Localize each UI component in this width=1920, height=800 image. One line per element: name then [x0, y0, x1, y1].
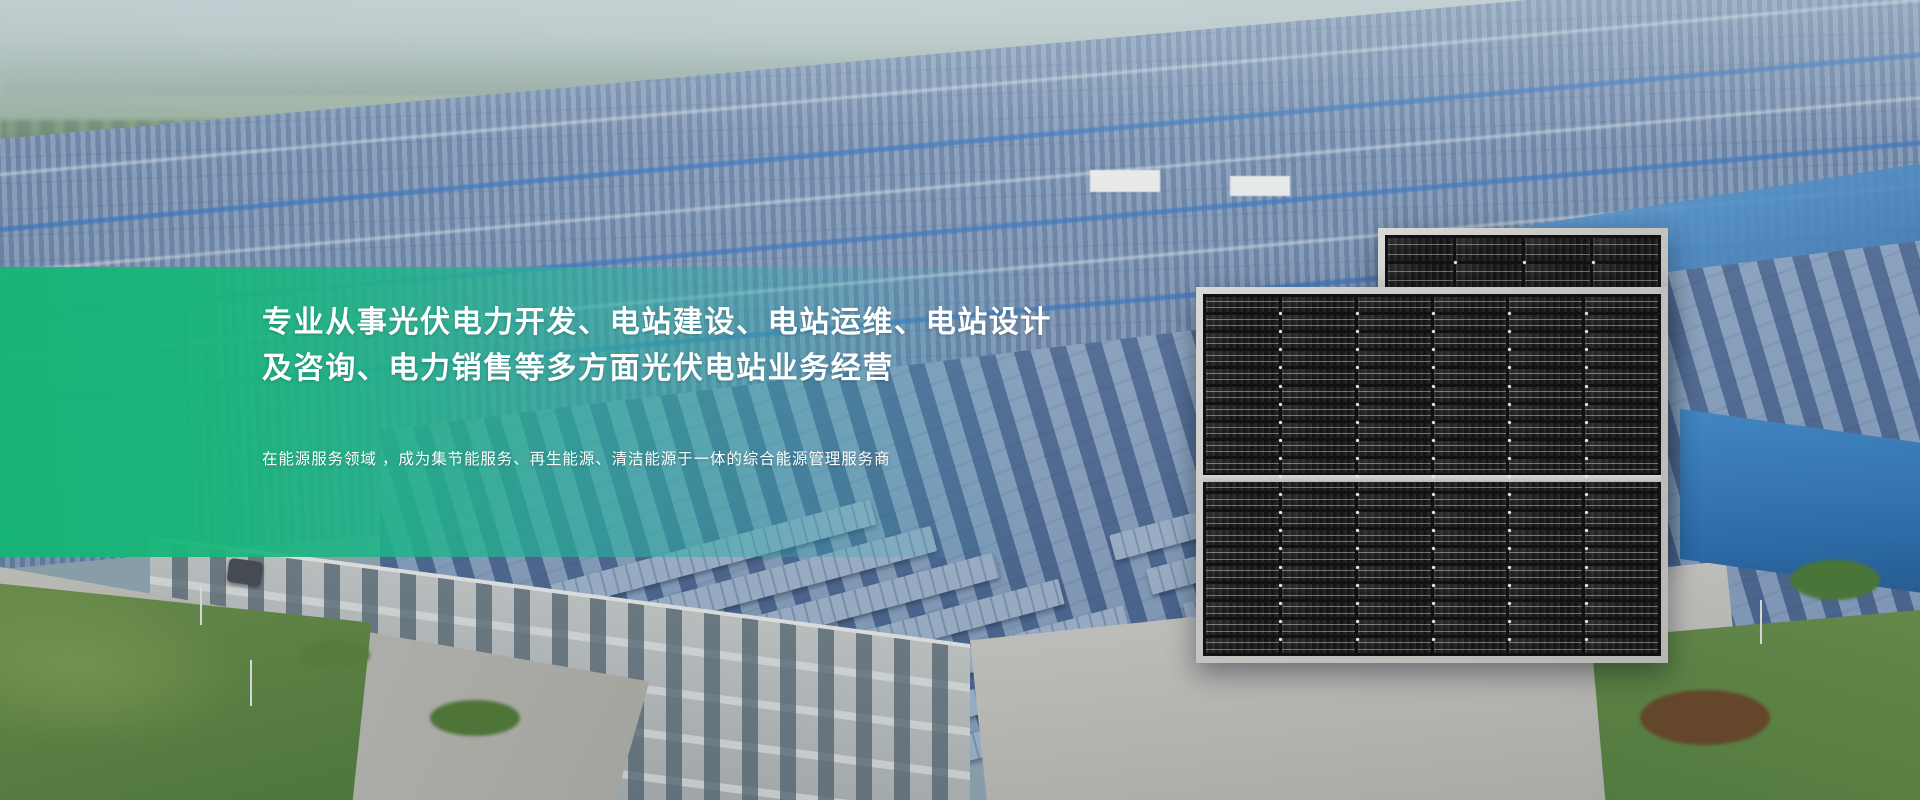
cell-busbar [1585, 355, 1658, 356]
cell-busbar [1434, 355, 1507, 356]
solar-cell [1585, 297, 1658, 312]
cell-busbar [1358, 559, 1431, 560]
solar-cell [1434, 369, 1507, 384]
solar-cell [1388, 238, 1453, 261]
solar-cell [1358, 351, 1431, 366]
solar-cell [1206, 297, 1279, 312]
solar-cell [1282, 351, 1355, 366]
solar-cell [1434, 405, 1507, 420]
solar-cell [1358, 584, 1431, 599]
solar-cell [1206, 620, 1279, 635]
solar-cell [1585, 387, 1658, 402]
cell-busbar [1206, 541, 1279, 542]
cell-busbar [1206, 409, 1279, 410]
cell-solder-dot [1356, 457, 1359, 460]
solar-cell [1585, 512, 1658, 527]
cell-busbar [1358, 469, 1431, 470]
solar-cell [1282, 369, 1355, 384]
cell-busbar [1434, 595, 1507, 596]
cell-busbar [1282, 445, 1355, 446]
solar-cell [1509, 441, 1582, 456]
cell-busbar [1282, 649, 1355, 650]
cell-busbar [1282, 361, 1355, 362]
solar-cell [1282, 494, 1355, 509]
solar-cell [1358, 315, 1431, 330]
solar-cell [1509, 459, 1582, 474]
cell-busbar [1358, 606, 1431, 607]
solar-cell [1585, 441, 1658, 456]
cell-solder-dot [1432, 439, 1435, 442]
cell-busbar [1509, 409, 1582, 410]
solar-cell [1585, 494, 1658, 509]
solar-cell [1434, 459, 1507, 474]
cell-busbar [1282, 469, 1355, 470]
solar-cell [1509, 584, 1582, 599]
cell-busbar [1206, 307, 1279, 308]
cell-busbar [1509, 559, 1582, 560]
cell-busbar [1585, 552, 1658, 553]
cell-busbar [1585, 642, 1658, 643]
cell-busbar [1282, 427, 1355, 428]
cell-busbar [1206, 487, 1279, 488]
cell-busbar [1434, 337, 1507, 338]
cell-busbar [1585, 451, 1658, 452]
cell-busbar [1206, 505, 1279, 506]
cell-solder-dot [1585, 493, 1588, 496]
cell-busbar [1282, 319, 1355, 320]
solar-cell [1358, 602, 1431, 617]
cell-busbar [1434, 613, 1507, 614]
cell-solder-dot [1356, 638, 1359, 641]
cell-busbar [1282, 505, 1355, 506]
cell-busbar [1585, 487, 1658, 488]
solar-cell [1585, 405, 1658, 420]
solar-cell [1206, 494, 1279, 509]
solar-cell [1585, 602, 1658, 617]
cell-busbar [1358, 577, 1431, 578]
hero-banner: 专业从事光伏电力开发、电站建设、电站运维、电站设计 及咨询、电力销售等多方面光伏… [0, 0, 1920, 800]
cell-busbar [1585, 343, 1658, 344]
cell-solder-dot [1585, 439, 1588, 442]
solar-cell [1593, 264, 1658, 287]
solar-cell [1509, 405, 1582, 420]
cell-busbar [1509, 487, 1582, 488]
solar-cell [1282, 620, 1355, 635]
cell-solder-dot [1432, 638, 1435, 641]
cell-busbar [1282, 325, 1355, 326]
cell-solder-dot [1432, 584, 1435, 587]
cell-solder-dot [1356, 511, 1359, 514]
cell-solder-dot [1432, 566, 1435, 569]
cell-busbar [1509, 541, 1582, 542]
cell-solder-dot [1356, 330, 1359, 333]
cell-busbar [1206, 379, 1279, 380]
cell-busbar [1456, 271, 1521, 272]
cell-busbar [1434, 535, 1507, 536]
solar-cell [1434, 512, 1507, 527]
cell-busbar [1388, 254, 1453, 255]
cell-busbar [1282, 409, 1355, 410]
solar-cell [1434, 566, 1507, 581]
cell-solder-dot [1585, 330, 1588, 333]
cell-busbar [1206, 559, 1279, 560]
cell-busbar [1525, 271, 1590, 272]
cell-solder-dot [1585, 566, 1588, 569]
solar-cell [1282, 548, 1355, 563]
cell-busbar [1509, 337, 1582, 338]
cell-busbar [1358, 433, 1431, 434]
cell-busbar [1525, 254, 1590, 255]
cell-busbar [1282, 379, 1355, 380]
cell-busbar [1585, 415, 1658, 416]
cell-solder-dot [1432, 457, 1435, 460]
solar-cell [1434, 548, 1507, 563]
cell-busbar [1358, 499, 1431, 500]
cell-busbar [1282, 301, 1355, 302]
solar-cell [1358, 333, 1431, 348]
solar-cell [1434, 584, 1507, 599]
cell-busbar [1509, 391, 1582, 392]
cell-busbar [1206, 319, 1279, 320]
cell-busbar [1358, 355, 1431, 356]
cell-busbar [1509, 433, 1582, 434]
cell-busbar [1509, 631, 1582, 632]
cell-solder-dot [1356, 566, 1359, 569]
cell-busbar [1509, 570, 1582, 571]
cell-busbar [1206, 397, 1279, 398]
cell-busbar [1206, 588, 1279, 589]
cell-busbar [1282, 463, 1355, 464]
cell-busbar [1585, 463, 1658, 464]
cell-busbar [1206, 469, 1279, 470]
solar-cell [1206, 602, 1279, 617]
cell-busbar [1434, 517, 1507, 518]
solar-cell [1358, 459, 1431, 474]
cell-busbar [1585, 631, 1658, 632]
solar-cell [1434, 602, 1507, 617]
cell-solder-dot [1585, 511, 1588, 514]
cell-busbar [1434, 552, 1507, 553]
cell-busbar [1509, 307, 1582, 308]
cell-solder-dot [1585, 385, 1588, 388]
cell-busbar [1509, 606, 1582, 607]
solar-cell [1585, 530, 1658, 545]
cell-busbar [1282, 559, 1355, 560]
solar-cell [1206, 315, 1279, 330]
solar-cell [1434, 333, 1507, 348]
solar-cell [1358, 566, 1431, 581]
cell-busbar [1282, 642, 1355, 643]
cell-busbar [1358, 624, 1431, 625]
solar-cell [1282, 423, 1355, 438]
cell-busbar [1509, 325, 1582, 326]
cell-solder-dot [1508, 385, 1511, 388]
cell-busbar [1358, 445, 1431, 446]
solar-cell [1593, 238, 1658, 261]
cell-busbar [1282, 606, 1355, 607]
cell-busbar [1206, 391, 1279, 392]
cell-busbar [1509, 613, 1582, 614]
cell-busbar [1434, 463, 1507, 464]
cell-busbar [1434, 570, 1507, 571]
cell-solder-dot [1432, 403, 1435, 406]
cell-busbar [1434, 505, 1507, 506]
solar-cell [1434, 297, 1507, 312]
solar-cell [1509, 494, 1582, 509]
solar-cell [1434, 441, 1507, 456]
cell-busbar [1282, 391, 1355, 392]
cell-busbar [1206, 463, 1279, 464]
cell-busbar [1585, 577, 1658, 578]
cell-busbar [1358, 642, 1431, 643]
solar-cell [1585, 566, 1658, 581]
cell-busbar [1434, 523, 1507, 524]
cell-busbar [1206, 624, 1279, 625]
solar-cell [1585, 423, 1658, 438]
solar-cell [1206, 441, 1279, 456]
cell-busbar [1509, 445, 1582, 446]
cell-busbar [1358, 337, 1431, 338]
solar-cell [1509, 333, 1582, 348]
cell-busbar [1206, 613, 1279, 614]
cell-busbar [1585, 541, 1658, 542]
cell-solder-dot [1585, 638, 1588, 641]
cell-busbar [1434, 409, 1507, 410]
solar-cell [1358, 297, 1431, 312]
cell-busbar [1206, 355, 1279, 356]
cell-busbar [1358, 391, 1431, 392]
solar-panel-image-front [1196, 287, 1668, 663]
cell-busbar [1358, 379, 1431, 380]
solar-cell [1585, 584, 1658, 599]
cell-busbar [1456, 280, 1521, 281]
solar-cell [1206, 351, 1279, 366]
cell-busbar [1509, 451, 1582, 452]
cell-busbar [1358, 552, 1431, 553]
cell-busbar [1206, 649, 1279, 650]
cell-busbar [1206, 595, 1279, 596]
cell-busbar [1434, 301, 1507, 302]
cell-solder-dot [1432, 421, 1435, 424]
cell-busbar [1509, 397, 1582, 398]
solar-cell [1358, 512, 1431, 527]
cell-busbar [1434, 469, 1507, 470]
solar-cell [1509, 530, 1582, 545]
cell-busbar [1358, 541, 1431, 542]
cell-busbar [1434, 451, 1507, 452]
solar-cell [1206, 566, 1279, 581]
cell-busbar [1206, 523, 1279, 524]
cell-busbar [1509, 319, 1582, 320]
cell-solder-dot [1585, 421, 1588, 424]
cell-busbar [1358, 595, 1431, 596]
solar-cell [1434, 423, 1507, 438]
cell-busbar [1206, 301, 1279, 302]
solar-cell [1585, 315, 1658, 330]
cell-busbar [1282, 433, 1355, 434]
cell-busbar [1282, 588, 1355, 589]
cell-busbar [1282, 451, 1355, 452]
cell-busbar [1282, 595, 1355, 596]
panel-cell-grid-front [1203, 294, 1661, 656]
cell-busbar [1206, 499, 1279, 500]
cell-busbar [1509, 577, 1582, 578]
cell-solder-dot [1432, 385, 1435, 388]
cell-solder-dot [1356, 439, 1359, 442]
cell-busbar [1358, 319, 1431, 320]
cell-busbar [1358, 463, 1431, 464]
solar-cell [1585, 548, 1658, 563]
cell-busbar [1585, 379, 1658, 380]
cell-busbar [1206, 631, 1279, 632]
cell-busbar [1206, 642, 1279, 643]
cell-busbar [1358, 343, 1431, 344]
cell-busbar [1434, 373, 1507, 374]
cell-busbar [1358, 649, 1431, 650]
cell-busbar [1282, 517, 1355, 518]
cell-busbar [1585, 469, 1658, 470]
cell-busbar [1434, 379, 1507, 380]
cell-busbar [1206, 361, 1279, 362]
cell-busbar [1585, 523, 1658, 524]
cell-busbar [1593, 254, 1658, 255]
cell-busbar [1509, 415, 1582, 416]
cell-busbar [1509, 642, 1582, 643]
cell-busbar [1206, 325, 1279, 326]
solar-cell [1358, 548, 1431, 563]
cell-busbar [1358, 588, 1431, 589]
cell-busbar [1282, 613, 1355, 614]
cell-busbar [1358, 517, 1431, 518]
cell-busbar [1585, 606, 1658, 607]
cell-busbar [1593, 244, 1658, 245]
cell-busbar [1388, 244, 1453, 245]
cell-busbar [1358, 613, 1431, 614]
cell-busbar [1358, 397, 1431, 398]
solar-cell [1282, 315, 1355, 330]
cell-busbar [1206, 445, 1279, 446]
solar-cell [1509, 566, 1582, 581]
cell-busbar [1585, 624, 1658, 625]
solar-cell [1282, 566, 1355, 581]
cell-solder-dot [1356, 584, 1359, 587]
cell-busbar [1509, 301, 1582, 302]
solar-cell [1509, 638, 1582, 653]
solar-cell [1282, 387, 1355, 402]
solar-cell [1358, 494, 1431, 509]
solar-cell [1525, 238, 1590, 261]
cell-busbar [1456, 244, 1521, 245]
cell-busbar [1434, 319, 1507, 320]
solar-cell [1509, 620, 1582, 635]
cell-busbar [1282, 499, 1355, 500]
cell-busbar [1585, 433, 1658, 434]
solar-cell [1206, 548, 1279, 563]
solar-cell [1434, 351, 1507, 366]
solar-cell [1434, 315, 1507, 330]
cell-busbar [1434, 631, 1507, 632]
cell-busbar [1206, 343, 1279, 344]
cell-busbar [1585, 391, 1658, 392]
solar-cell [1456, 264, 1521, 287]
solar-cell [1206, 638, 1279, 653]
cell-busbar [1509, 499, 1582, 500]
cell-busbar [1585, 570, 1658, 571]
cell-busbar [1206, 535, 1279, 536]
cell-busbar [1593, 280, 1658, 281]
cell-busbar [1509, 552, 1582, 553]
cell-busbar [1509, 355, 1582, 356]
solar-cell [1358, 620, 1431, 635]
cell-solder-dot [1585, 620, 1588, 623]
cell-busbar [1509, 373, 1582, 374]
solar-cell [1282, 638, 1355, 653]
cell-busbar [1434, 307, 1507, 308]
cell-busbar [1206, 373, 1279, 374]
cell-busbar [1509, 523, 1582, 524]
solar-cell [1509, 602, 1582, 617]
cell-busbar [1206, 337, 1279, 338]
cell-busbar [1585, 445, 1658, 446]
cell-busbar [1509, 343, 1582, 344]
cell-busbar [1434, 427, 1507, 428]
solar-cell [1282, 405, 1355, 420]
solar-cell [1585, 620, 1658, 635]
cell-busbar [1358, 325, 1431, 326]
cell-busbar [1585, 595, 1658, 596]
solar-cell [1509, 512, 1582, 527]
cell-busbar [1358, 631, 1431, 632]
solar-cell [1388, 264, 1453, 287]
cell-busbar [1456, 254, 1521, 255]
cell-busbar [1282, 337, 1355, 338]
solar-cell [1434, 530, 1507, 545]
cell-busbar [1358, 307, 1431, 308]
cell-busbar [1206, 433, 1279, 434]
cell-solder-dot [1508, 566, 1511, 569]
solar-cell [1282, 530, 1355, 545]
cell-busbar [1593, 271, 1658, 272]
cell-busbar [1509, 649, 1582, 650]
cell-busbar [1585, 588, 1658, 589]
solar-cell [1509, 369, 1582, 384]
cell-busbar [1434, 588, 1507, 589]
cell-busbar [1206, 427, 1279, 428]
cell-busbar [1282, 577, 1355, 578]
solar-cell [1358, 423, 1431, 438]
cell-solder-dot [1432, 475, 1435, 478]
solar-cell [1282, 584, 1355, 599]
cell-busbar [1358, 451, 1431, 452]
cell-busbar [1358, 487, 1431, 488]
cell-busbar [1434, 577, 1507, 578]
cell-busbar [1585, 325, 1658, 326]
cell-busbar [1585, 613, 1658, 614]
solar-cell [1282, 602, 1355, 617]
cell-busbar [1434, 445, 1507, 446]
cell-busbar [1434, 541, 1507, 542]
cell-busbar [1509, 505, 1582, 506]
cell-solder-dot [1432, 602, 1435, 605]
cell-busbar [1434, 391, 1507, 392]
solar-cell [1434, 387, 1507, 402]
cell-solder-dot [1356, 403, 1359, 406]
cell-busbar [1358, 415, 1431, 416]
solar-cell [1206, 459, 1279, 474]
solar-cell [1282, 459, 1355, 474]
cell-busbar [1509, 595, 1582, 596]
solar-cell [1509, 387, 1582, 402]
